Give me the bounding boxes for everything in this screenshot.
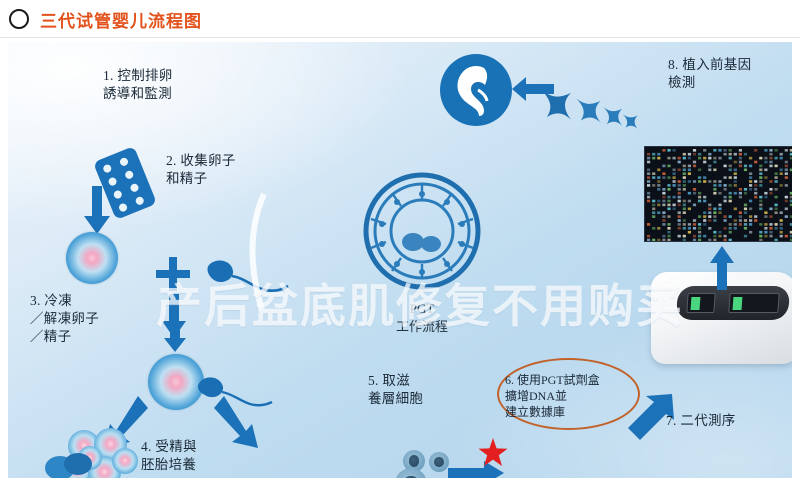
page-header: 三代试管婴儿流程图 [0,0,800,38]
step-5-label: 5. 取滋 養層細胞 [368,372,423,408]
egg-cell-icon [66,232,118,284]
step-3-label: 3. 冷凍 ／解凍卵子 ／精子 [30,292,99,346]
blue-arrow-icon [164,330,186,352]
decorative-blob-icon [44,446,94,478]
step-7-label: 7. 二代測序 [666,412,736,430]
blastocyst-icon [363,172,481,290]
fetus-badge-icon [440,54,512,126]
ivf-pgt-flow-diagram: 1. 控制排卵 誘導和監測 3. 冷凍 ／解凍卵子 ／精子 2. 收集卵子 和精… [8,42,792,478]
blue-arrow-icon [710,246,734,290]
dna-array-icon [644,146,792,242]
red-star-icon [478,438,508,468]
page-title: 三代试管婴儿流程图 [40,7,202,32]
blue-arrow-icon [214,394,272,452]
step-6-label: 6. 使用PGT試劑盒 擴增DNA並 建立數據庫 [505,372,635,420]
circle-outline-icon [9,9,29,29]
blue-arrow-icon [244,160,300,310]
blue-arrow-icon [512,76,554,102]
blue-arrow-icon [84,186,110,234]
step-1-label: 1. 控制排卵 誘導和監測 [103,67,173,103]
step-8-label: 8. 植入前基因 檢測 [668,56,751,92]
blue-arrow-icon [190,476,250,478]
step-4-label: 4. 受精與 胚胎培養 [141,438,197,474]
screenshot-root: 三代试管婴儿流程图 1. 控制排卵 誘導和監測 3. 冷凍 ／解凍卵子 ／精子 … [0,0,800,482]
center-label: PGT 工作流程 [360,300,484,336]
step-2-label: 2. 收集卵子 和精子 [166,152,236,188]
plus-sign-icon [156,257,190,291]
